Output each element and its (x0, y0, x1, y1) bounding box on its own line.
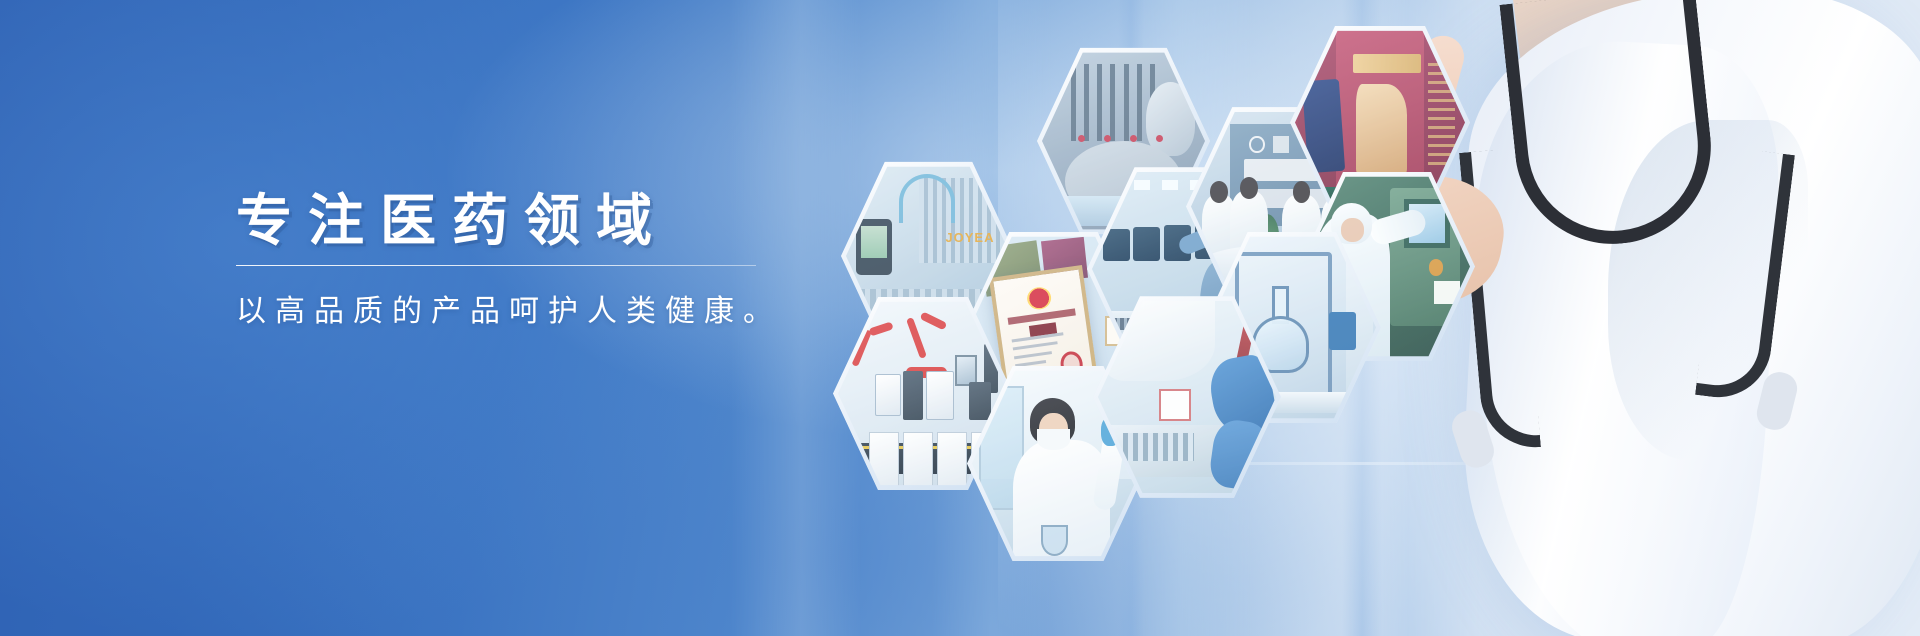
trophy-icon (1356, 84, 1407, 176)
page-title: 专注医药领域 (236, 192, 876, 251)
national-emblem-icon (1025, 285, 1052, 310)
joyea-logo-text: JOYEA (945, 230, 994, 245)
company-logo-icon (1273, 136, 1289, 154)
hero-text-block: 专注医药领域 以高品质的产品呵护人类健康。 (236, 192, 876, 330)
face-mask-icon (1037, 429, 1070, 450)
award-title-plate (1353, 54, 1421, 73)
title-divider (236, 265, 756, 266)
university-logo-icon (1249, 136, 1265, 154)
hero-banner: JOYEA (0, 0, 1920, 636)
page-subtitle: 以高品质的产品呵护人类健康。 (236, 286, 876, 330)
